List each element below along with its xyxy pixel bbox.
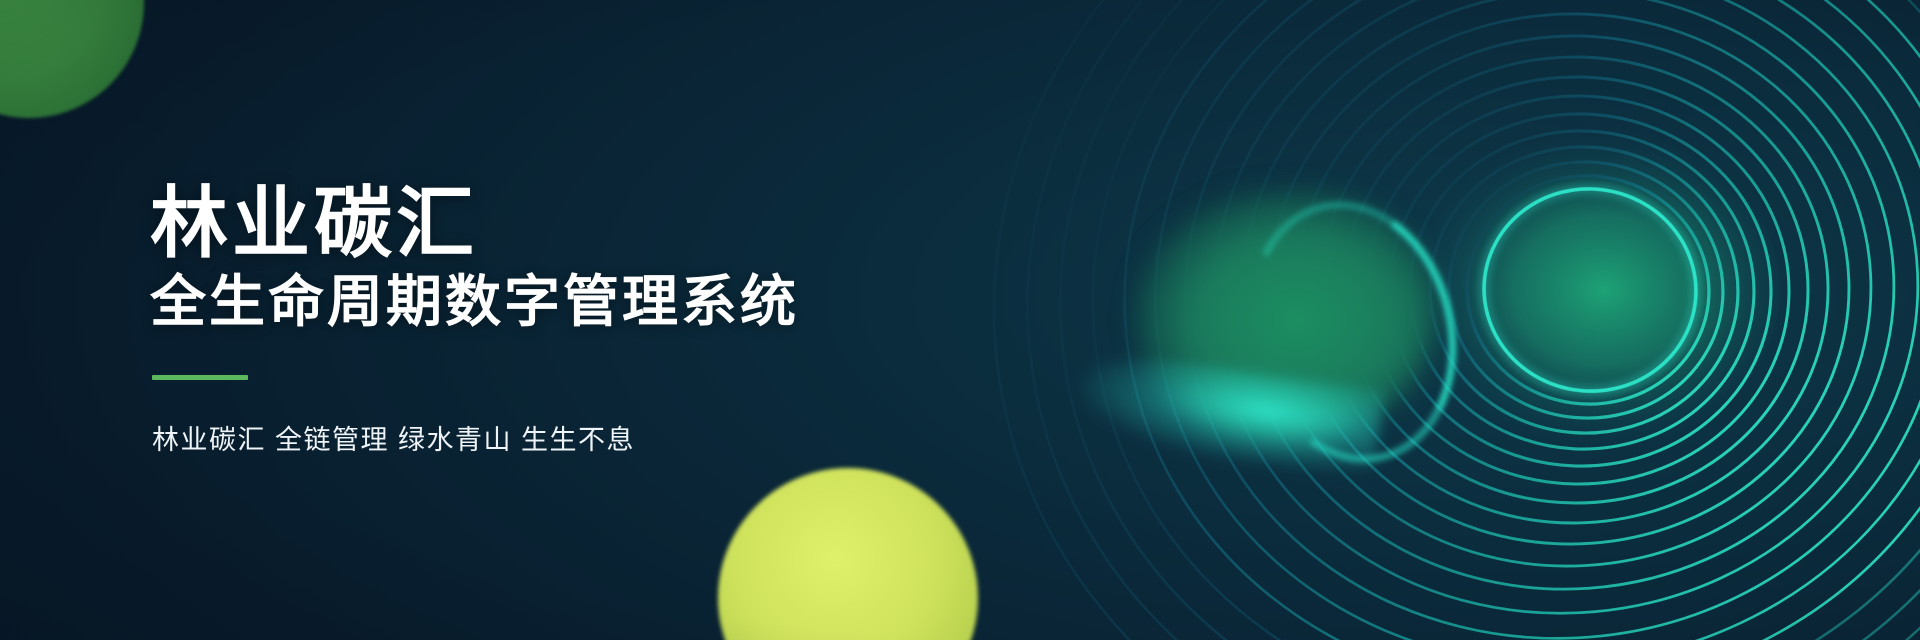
page-title: 林业碳汇 <box>150 183 799 265</box>
accent-divider <box>152 375 248 380</box>
page-subtitle: 全生命周期数字管理系统 <box>150 271 799 333</box>
tagline-text: 林业碳汇 全链管理 绿水青山 生生不息 <box>152 418 799 457</box>
banner-content: 林业碳汇 全生命周期数字管理系统 林业碳汇 全链管理 绿水青山 生生不息 <box>150 0 799 640</box>
hero-banner: 林业碳汇 全生命周期数字管理系统 林业碳汇 全链管理 绿水青山 生生不息 <box>0 0 1920 640</box>
